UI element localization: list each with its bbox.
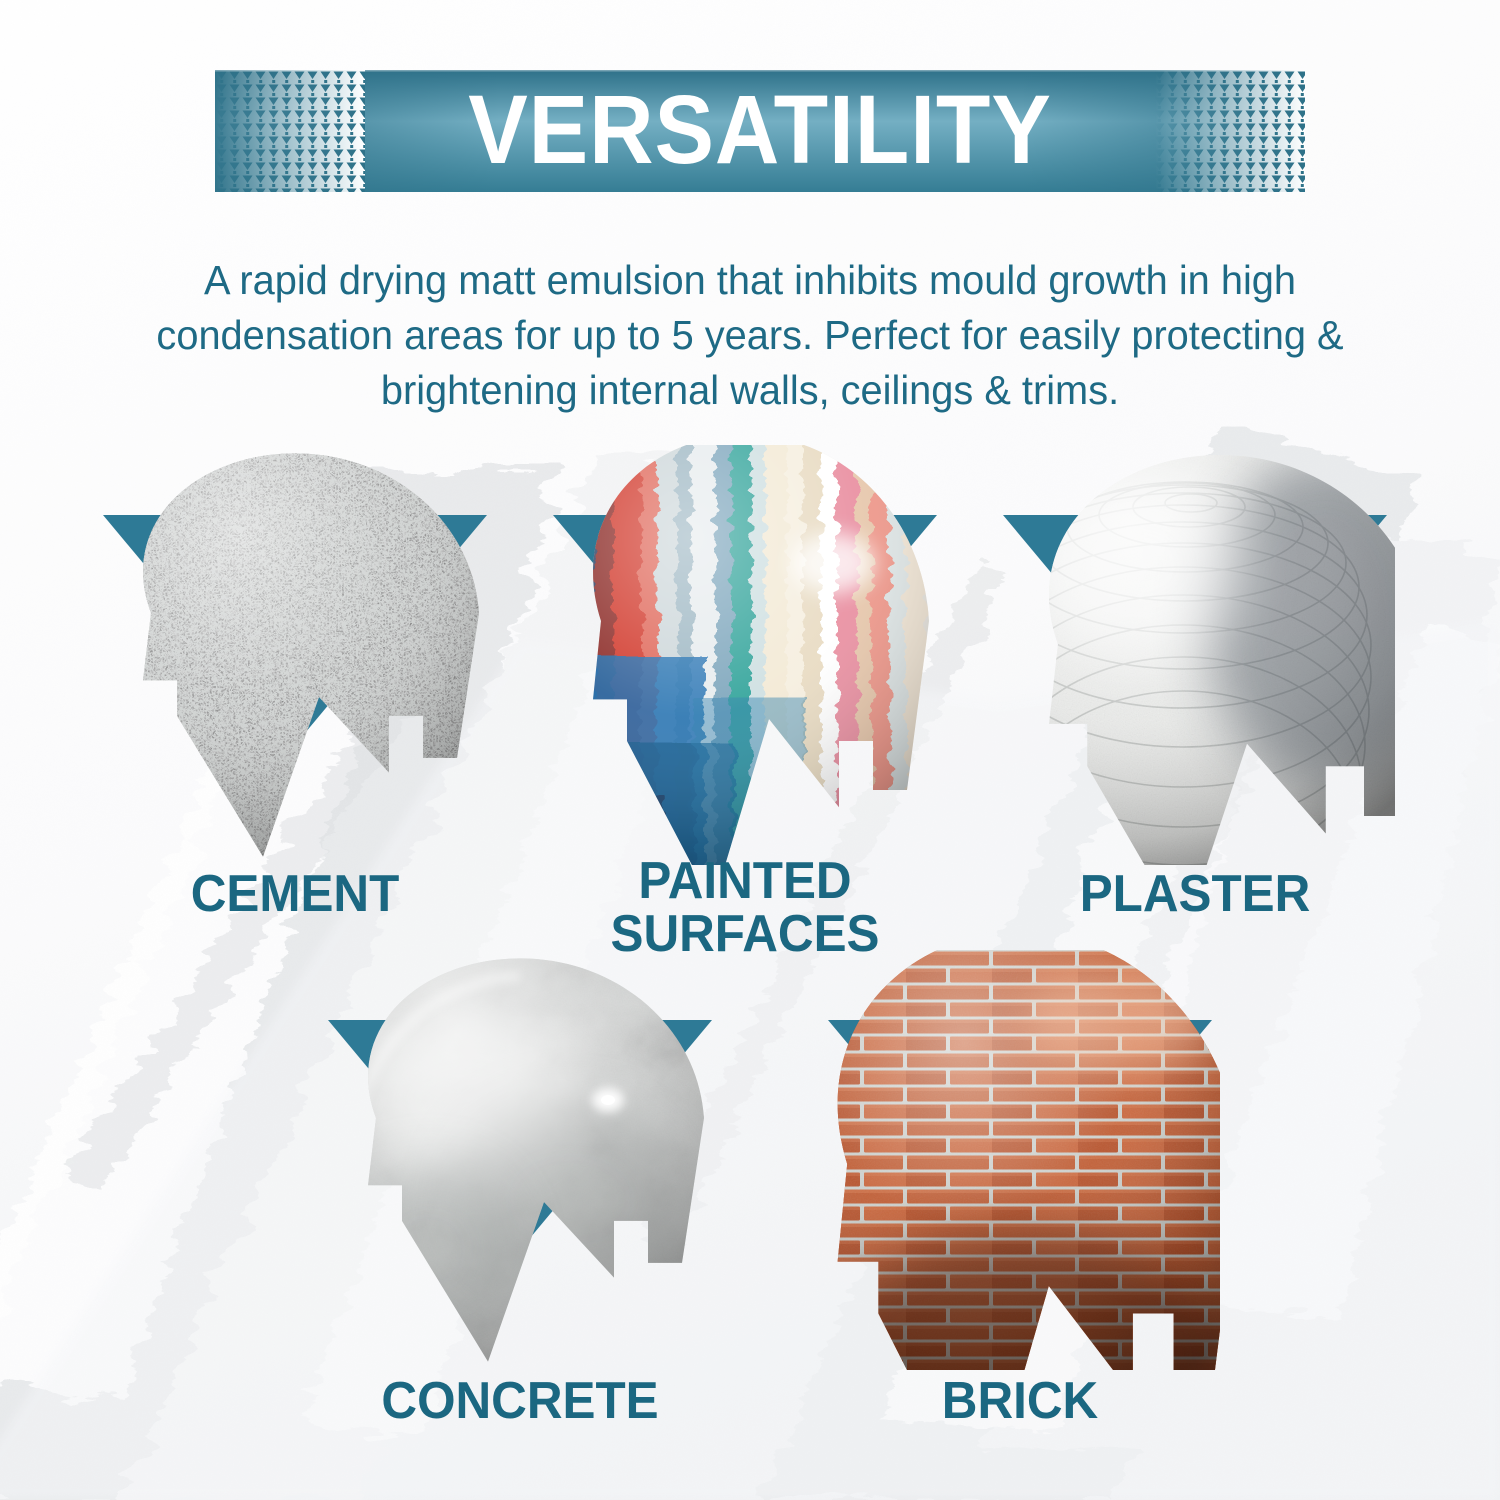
surface-label-painted-surfaces: PAINTED SURFACES — [555, 855, 935, 961]
page-title: VERSATILITY — [259, 70, 1262, 192]
description-text: A rapid drying matt emulsion that inhibi… — [129, 253, 1371, 418]
painted-surfaces-texture — [545, 445, 945, 865]
surface-card-brick[interactable] — [820, 950, 1220, 1370]
surface-card-cement[interactable] — [95, 445, 495, 865]
surface-label-concrete: CONCRETE — [330, 1375, 710, 1427]
concrete-swatch-graphic — [320, 950, 720, 1370]
surface-card-painted-surfaces[interactable] — [545, 445, 945, 865]
plaster-swatch-graphic — [995, 445, 1395, 865]
surface-card-concrete[interactable] — [320, 950, 720, 1370]
surface-label-cement: CEMENT — [105, 868, 485, 920]
cement-texture — [95, 445, 495, 865]
plaster-texture — [995, 445, 1395, 865]
surface-card-plaster[interactable] — [995, 445, 1395, 865]
brick-texture — [820, 950, 1220, 1370]
concrete-texture — [320, 950, 720, 1370]
cement-swatch-graphic — [95, 445, 495, 865]
surface-label-brick: BRICK — [830, 1375, 1210, 1427]
title-banner: VERSATILITY — [215, 70, 1305, 192]
painted-surfaces-swatch-graphic — [545, 445, 945, 865]
brick-swatch-graphic — [820, 950, 1220, 1370]
surface-label-plaster: PLASTER — [1005, 868, 1385, 920]
